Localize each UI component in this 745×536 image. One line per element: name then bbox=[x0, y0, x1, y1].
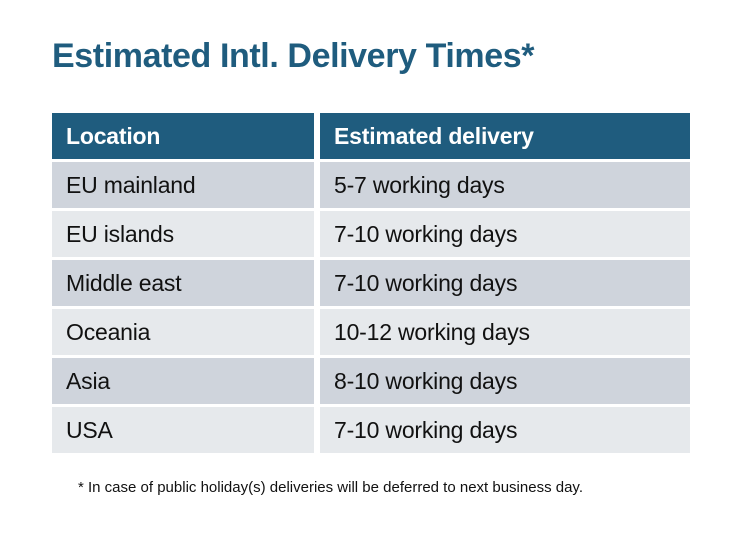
delivery-times-page: Estimated Intl. Delivery Times* Location… bbox=[0, 0, 745, 536]
cell-location: Asia bbox=[52, 358, 314, 404]
table-row: Middle east 7-10 working days bbox=[52, 260, 690, 306]
table-row: Oceania 10-12 working days bbox=[52, 309, 690, 355]
table-row: EU mainland 5-7 working days bbox=[52, 162, 690, 208]
cell-location: EU islands bbox=[52, 211, 314, 257]
delivery-times-table: Location Estimated delivery EU mainland … bbox=[52, 113, 690, 456]
cell-location: Oceania bbox=[52, 309, 314, 355]
cell-location: Middle east bbox=[52, 260, 314, 306]
table-row: Asia 8-10 working days bbox=[52, 358, 690, 404]
footnote-text: * In case of public holiday(s) deliverie… bbox=[78, 479, 583, 496]
table-row: USA 7-10 working days bbox=[52, 407, 690, 453]
cell-location: EU mainland bbox=[52, 162, 314, 208]
cell-estimated-delivery: 5-7 working days bbox=[320, 162, 690, 208]
cell-estimated-delivery: 10-12 working days bbox=[320, 309, 690, 355]
cell-estimated-delivery: 7-10 working days bbox=[320, 407, 690, 453]
column-header-location: Location bbox=[52, 113, 314, 159]
cell-estimated-delivery: 7-10 working days bbox=[320, 260, 690, 306]
table-header-row: Location Estimated delivery bbox=[52, 113, 690, 159]
column-header-estimated-delivery: Estimated delivery bbox=[320, 113, 690, 159]
cell-location: USA bbox=[52, 407, 314, 453]
cell-estimated-delivery: 8-10 working days bbox=[320, 358, 690, 404]
cell-estimated-delivery: 7-10 working days bbox=[320, 211, 690, 257]
page-title: Estimated Intl. Delivery Times* bbox=[52, 38, 534, 75]
table-row: EU islands 7-10 working days bbox=[52, 211, 690, 257]
